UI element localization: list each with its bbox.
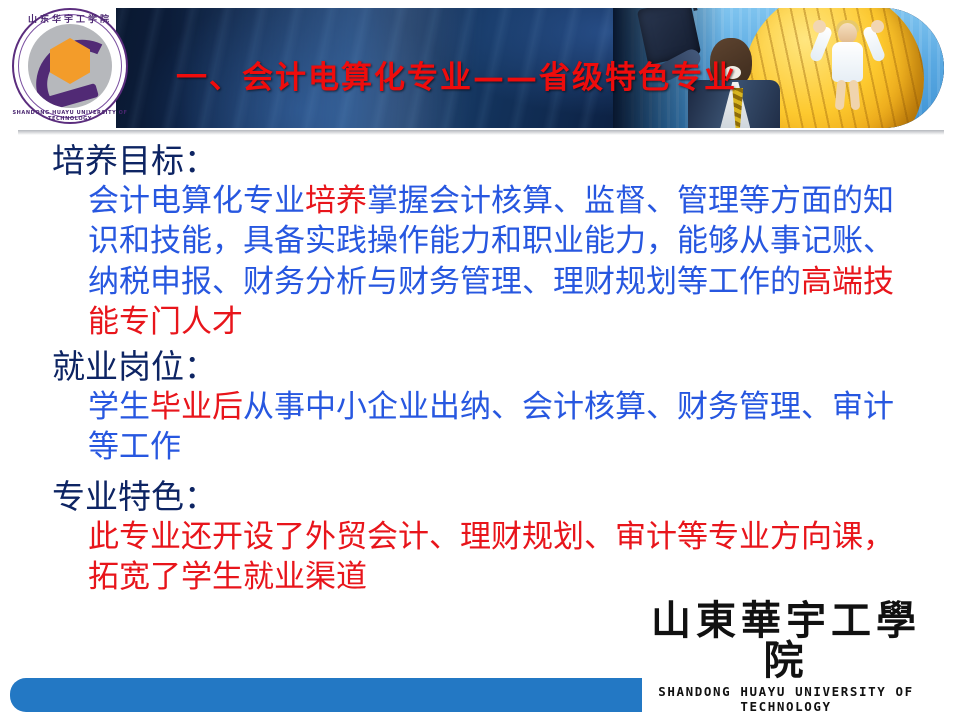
seal-chinese-text: 山东华宇工学院 — [8, 12, 132, 25]
section-major-features: 专业特色： 此专业还开设了外贸会计、理财规划、审计等专业方向课，拓宽了学生就业渠… — [0, 478, 960, 598]
header-title: 一、会计电算化专业——省级特色专业 — [176, 52, 737, 97]
section-heading: 专业特色： — [52, 478, 960, 517]
section-paragraph: 学生毕业后从事中小企业出纳、会计核算、财务管理、审计等工作 — [88, 387, 912, 468]
section-paragraph: 此专业还开设了外贸会计、理财规划、审计等专业方向课，拓宽了学生就业渠道 — [88, 517, 912, 598]
section-training-objective: 培养目标： 会计电算化专业培养掌握会计核算、监督、管理等方面的知识和技能，具备实… — [0, 142, 960, 342]
section-heading: 就业岗位： — [52, 348, 960, 387]
section-heading: 培养目标： — [52, 142, 960, 181]
section-paragraph: 会计电算化专业培养掌握会计核算、监督、管理等方面的知识和技能，具备实践操作能力和… — [88, 181, 912, 342]
section-employment-positions: 就业岗位： 学生毕业后从事中小企业出纳、会计核算、财务管理、审计等工作 — [0, 348, 960, 468]
celebrating-woman-figure — [805, 18, 891, 128]
slide-header: 一、会计电算化专业——省级特色专业 山东华宇工学院 SHANDONG HUAYU… — [0, 0, 960, 140]
text-run-highlight: 毕业后 — [150, 389, 243, 425]
seal-emblem — [28, 24, 112, 108]
text-run-highlight: 此专业还开设了外贸会计、理财规划、审计等专业方向课，拓宽了学生就业渠道 — [88, 519, 894, 595]
footer-accent-bar — [10, 678, 642, 712]
seal-english-text: SHANDONG HUAYU UNIVERSITY OF TECHNOLOGY — [8, 110, 132, 122]
footer-logo-english: SHANDONG HUAYU UNIVERSITY OF TECHNOLOGY — [630, 684, 942, 714]
footer-university-logo: 山東華宇工學院 SHANDONG HUAYU UNIVERSITY OF TEC… — [630, 601, 942, 714]
text-run-highlight: 培养 — [305, 183, 367, 219]
text-run: 会计电算化专业 — [88, 183, 305, 219]
footer-logo-chinese: 山東華宇工學院 — [630, 601, 942, 681]
text-run: 学生 — [88, 389, 150, 425]
header-banner: 一、会计电算化专业——省级特色专业 — [116, 8, 944, 128]
slide-body: 培养目标： 会计电算化专业培养掌握会计核算、监督、管理等方面的知识和技能，具备实… — [0, 142, 960, 597]
presentation-slide: 一、会计电算化专业——省级特色专业 山东华宇工学院 SHANDONG HUAYU… — [0, 0, 960, 720]
header-divider-shadow — [18, 130, 944, 135]
university-seal-logo: 山东华宇工学院 SHANDONG HUAYU UNIVERSITY OF TEC… — [8, 4, 132, 128]
